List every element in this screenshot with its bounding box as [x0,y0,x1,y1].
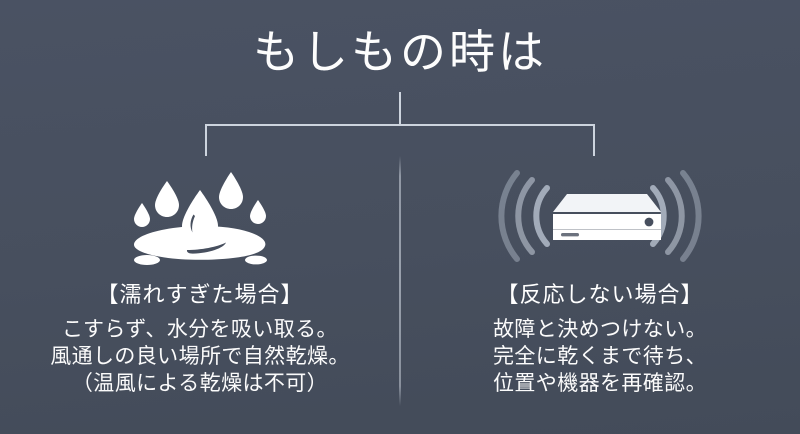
column-right-line-2: 完全に乾くまで待ち、 [400,343,800,370]
column-right-line-3: 位置や機器を再確認。 [400,370,800,397]
column-left-line-2: 風通しの良い場所で自然乾燥。 [0,343,400,370]
game-console-signal-icon [485,166,715,266]
column-right-line-1: 故障と決めつけない。 [400,316,800,343]
column-left-body: こすらず、水分を吸い取る。 風通しの良い場所で自然乾燥。 （温風による乾燥は不可… [0,316,400,397]
console-slot [561,233,579,236]
bracket-connector [0,92,800,158]
page-title: もしもの時は [0,24,800,80]
slide-root: もしもの時は [0,0,800,434]
column-right-heading: 【反応しない場合】 [400,280,800,310]
column-left-heading: 【濡れすぎた場合】 [0,280,400,310]
icon-container-left [0,160,400,272]
column-left-line-1: こすらず、水分を吸い取る。 [0,316,400,343]
icon-container-right [400,160,800,272]
console-power-button [645,218,654,227]
console-body [553,194,661,240]
column-right: 【反応しない場合】 故障と決めつけない。 完全に乾くまで待ち、 位置や機器を再確… [400,160,800,397]
water-splash-icon [125,164,275,268]
signal-arcs-left [501,173,547,259]
column-left: 【濡れすぎた場合】 こすらず、水分を吸い取る。 風通しの良い場所で自然乾燥。 （… [0,160,400,397]
column-right-body: 故障と決めつけない。 完全に乾くまで待ち、 位置や機器を再確認。 [400,316,800,397]
column-left-line-3: （温風による乾燥は不可） [0,370,400,397]
